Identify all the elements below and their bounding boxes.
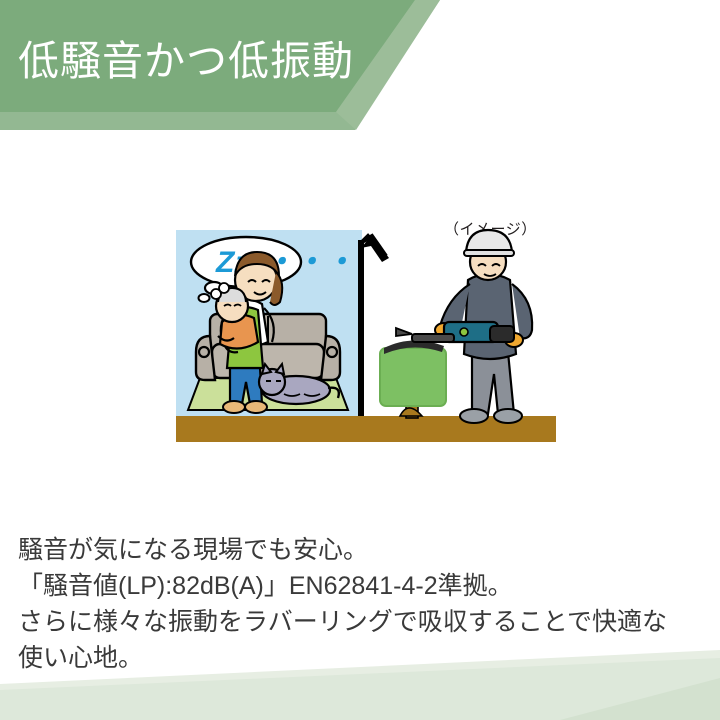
body-line-2: 「騒音値(LP):82dB(A)」EN62841-4-2準拠。	[18, 568, 708, 604]
page-title: 低騒音かつ低振動	[18, 38, 354, 85]
hedge-bush	[380, 340, 446, 418]
product-illustration: Zzz・・・	[172, 218, 568, 466]
hedge-trimmer-tool	[396, 322, 514, 342]
illustration-artwork: Zzz・・・	[172, 218, 568, 466]
house-wall-line	[358, 240, 363, 418]
slide-canvas: 低騒音かつ低振動 （イメージ）	[0, 0, 720, 720]
body-line-3: さらに様々な振動をラバーリングで吸収することで快適な	[18, 604, 708, 640]
footer-decoration	[0, 650, 720, 720]
header-banner: 低騒音かつ低振動	[0, 0, 720, 150]
footer-decoration-shape	[0, 650, 720, 720]
body-line-1: 騒音が気になる現場でも安心。	[18, 532, 708, 568]
